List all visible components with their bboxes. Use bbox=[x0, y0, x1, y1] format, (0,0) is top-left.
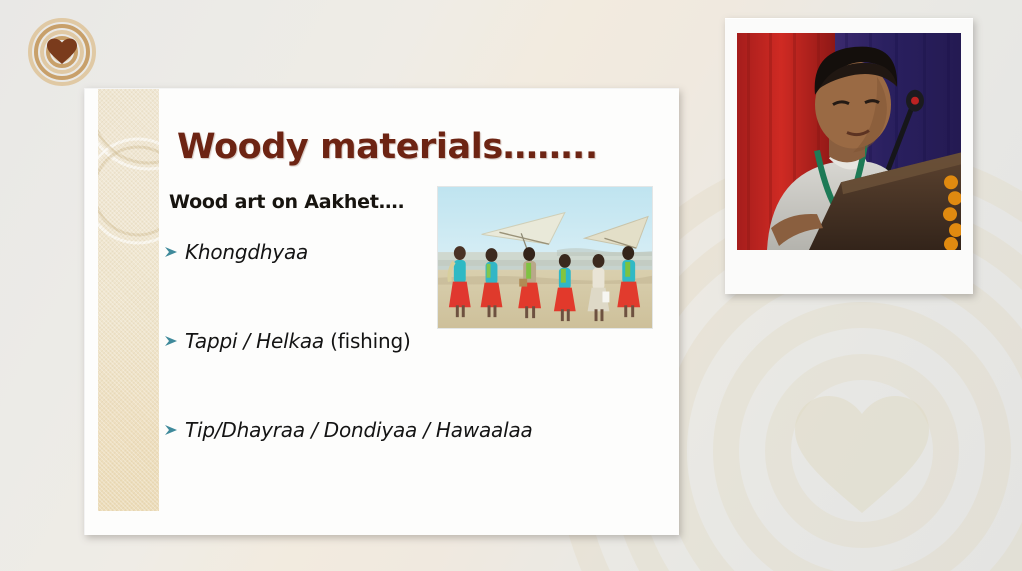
fisherwomen-beach-photo bbox=[437, 186, 653, 329]
arrow-bullet-icon bbox=[163, 419, 185, 438]
presentation-recording-canvas: Woody materials…….. Wood art on Aakhet….… bbox=[0, 0, 1022, 571]
bullet-text: Khongdhyaa bbox=[185, 241, 308, 263]
list-item: Tappi / Helkaa (fishing) bbox=[163, 330, 593, 419]
bullet-text-suffix: (fishing) bbox=[330, 329, 410, 353]
speaker-video-image bbox=[737, 33, 961, 250]
bullet-text-main: Tappi / Helkaa bbox=[185, 329, 330, 353]
arrow-bullet-icon bbox=[163, 330, 185, 349]
list-item: Tip/Dhayraa / Dondiyaa / Hawaalaa bbox=[163, 419, 593, 508]
arrow-bullet-icon bbox=[163, 241, 185, 260]
slide-subtitle: Wood art on Aakhet…. bbox=[169, 191, 405, 213]
band-circles-icon bbox=[98, 89, 159, 253]
bullet-text-main: Tip/Dhayraa / Dondiyaa / Hawaalaa bbox=[185, 418, 533, 442]
slide-content: Woody materials…….. Wood art on Aakhet….… bbox=[85, 89, 679, 535]
slide-decorative-side-band bbox=[98, 89, 159, 511]
bullet-text: Tappi / Helkaa (fishing) bbox=[185, 330, 411, 352]
bullet-text-main: Khongdhyaa bbox=[185, 240, 308, 264]
slide-panel[interactable]: Woody materials…….. Wood art on Aakhet….… bbox=[84, 88, 679, 535]
speaker-video-thumbnail[interactable] bbox=[725, 18, 973, 294]
slide-title: Woody materials…….. bbox=[177, 127, 598, 167]
heart-rings-logo-icon bbox=[26, 16, 98, 88]
bullet-text: Tip/Dhayraa / Dondiyaa / Hawaalaa bbox=[185, 419, 533, 441]
